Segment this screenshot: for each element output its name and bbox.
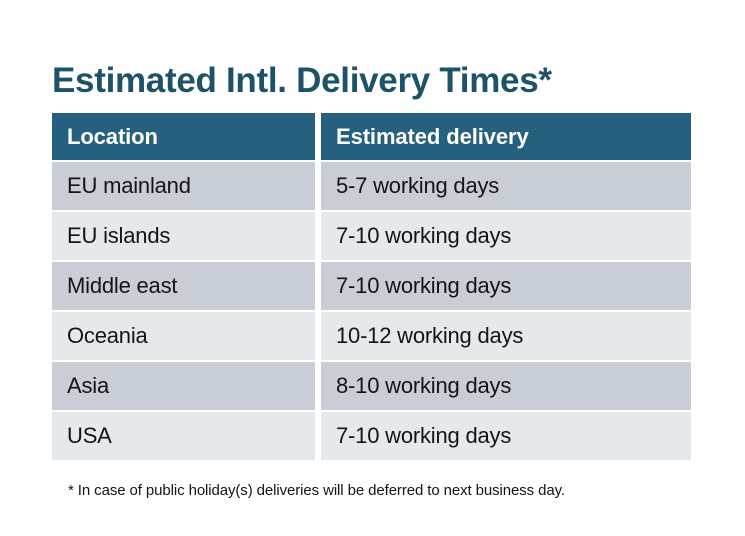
cell-location: EU mainland (52, 162, 315, 210)
delivery-times-page: Estimated Intl. Delivery Times* Location… (0, 0, 745, 536)
cell-estimated-delivery: 8-10 working days (321, 362, 691, 410)
footnote-text: * In case of public holiday(s) deliverie… (68, 481, 565, 501)
cell-location: EU islands (52, 212, 315, 260)
cell-location: Oceania (52, 312, 315, 360)
table-row: Oceania 10-12 working days (52, 312, 691, 360)
table-header-row: Location Estimated delivery (52, 113, 691, 160)
cell-estimated-delivery: 5-7 working days (321, 162, 691, 210)
column-header-estimated-delivery: Estimated delivery (321, 113, 691, 160)
page-title: Estimated Intl. Delivery Times* (52, 59, 552, 103)
cell-estimated-delivery: 7-10 working days (321, 412, 691, 460)
column-header-location: Location (52, 113, 315, 160)
table-row: Asia 8-10 working days (52, 362, 691, 410)
delivery-times-table: Location Estimated delivery EU mainland … (52, 113, 691, 460)
table-row: EU islands 7-10 working days (52, 212, 691, 260)
cell-location: USA (52, 412, 315, 460)
cell-estimated-delivery: 10-12 working days (321, 312, 691, 360)
cell-location: Middle east (52, 262, 315, 310)
table-row: EU mainland 5-7 working days (52, 162, 691, 210)
cell-estimated-delivery: 7-10 working days (321, 262, 691, 310)
cell-location: Asia (52, 362, 315, 410)
table-row: USA 7-10 working days (52, 412, 691, 460)
cell-estimated-delivery: 7-10 working days (321, 212, 691, 260)
table-row: Middle east 7-10 working days (52, 262, 691, 310)
